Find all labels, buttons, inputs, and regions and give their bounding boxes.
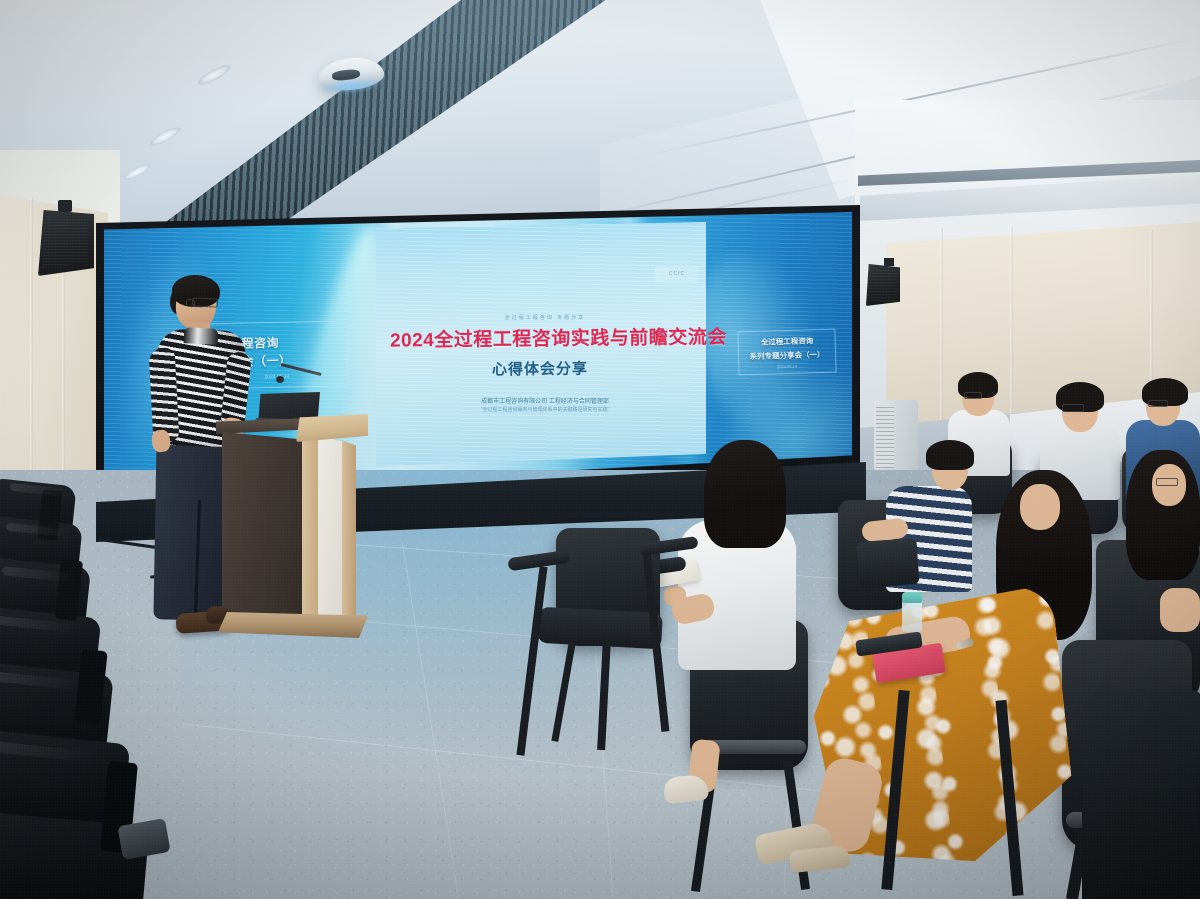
glasses-icon (964, 392, 982, 399)
presenter-arm-left (149, 347, 180, 442)
empty-chair-seat (537, 607, 663, 649)
blind-crease (1010, 226, 1013, 432)
slide-logo: CCIC (655, 266, 699, 282)
podium-front-panel (222, 428, 306, 624)
blind-crease (940, 228, 943, 434)
glasses-icon (1062, 404, 1084, 412)
microphone-icon (276, 376, 284, 383)
conference-room-photo: 全过程工程咨询 专题分享 2024全过程工程咨询实践与前瞻交流会 心得体会分享 … (0, 0, 1200, 899)
blind-crease (30, 198, 33, 492)
chair-arm (856, 538, 919, 588)
speaker-bracket-left (58, 200, 72, 212)
slide-footline-org: 成都市工程咨询有限公司 工程经济与合同管理部 (420, 396, 670, 405)
speaker-bracket-right (884, 258, 894, 266)
presenter-collar (184, 327, 219, 345)
speaker-grille-left (42, 216, 88, 268)
water-bottle-cap (902, 592, 922, 603)
attendee-hair (926, 440, 974, 470)
presenter-hand-left (151, 429, 171, 452)
attendee-shoulder (1160, 588, 1200, 632)
water-bottle (902, 598, 922, 632)
glasses-icon (192, 297, 218, 307)
attendee-hand (664, 586, 686, 606)
glasses-icon (1156, 478, 1178, 486)
speaker-grille-right (869, 268, 897, 301)
air-purifier-grille (876, 404, 894, 468)
slide-title: 2024全过程工程咨询实践与前瞻交流会 (390, 322, 690, 352)
podium-wood-post (342, 440, 356, 624)
attendee-hair (704, 440, 786, 548)
chair-back (1082, 690, 1200, 899)
slide-subtitle: 心得体会分享 (400, 357, 680, 381)
attendee-head (1020, 484, 1060, 530)
slide-kicker-text: 全过程工程咨询 专题分享 (420, 314, 670, 321)
podium-center-panel (318, 436, 344, 624)
glasses-icon (1148, 400, 1168, 407)
podium-wood-post (302, 432, 320, 624)
slide-footline-topic: “全过程工程咨询服务与管理体系中的关键路径研究与实践” (420, 406, 670, 413)
glasses-icon (186, 299, 195, 307)
